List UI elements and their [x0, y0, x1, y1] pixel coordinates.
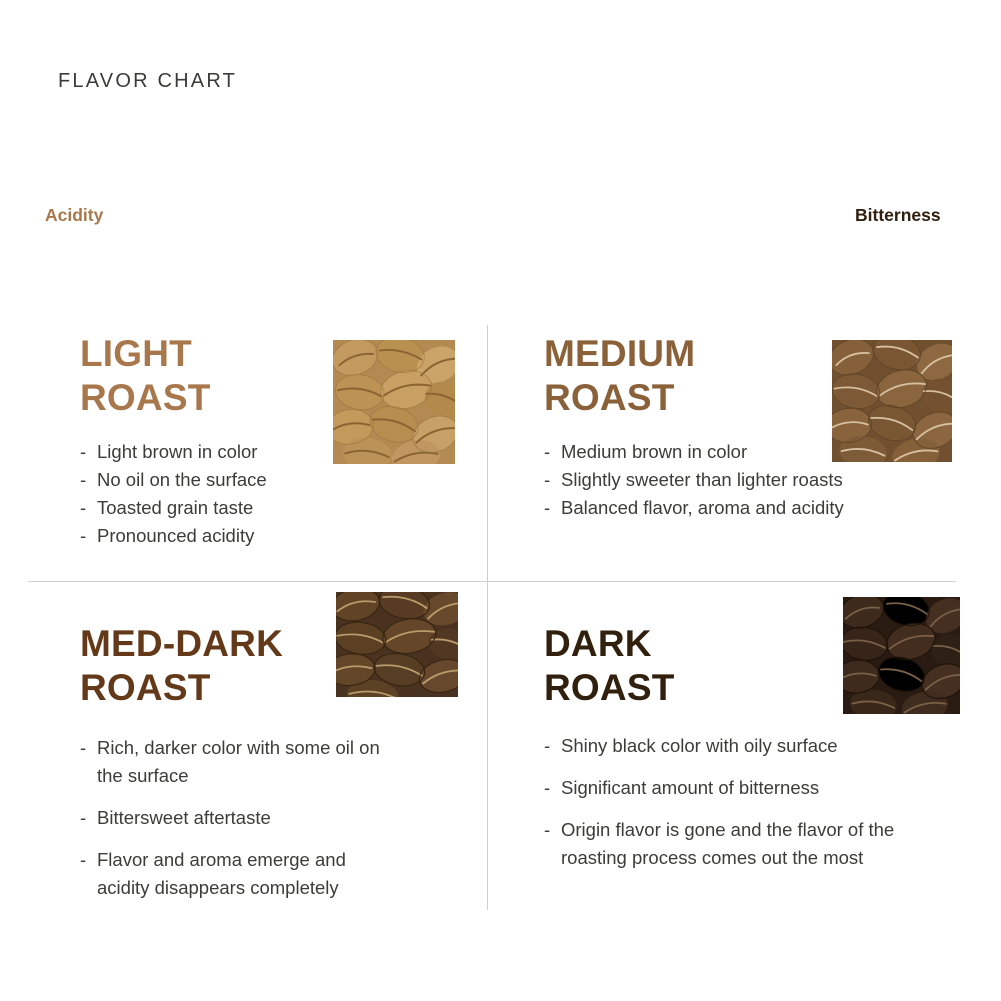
- list-item: -Toasted grain taste: [80, 494, 480, 522]
- scale-segment-label-meddark: MED-DARK: [525, 205, 641, 229]
- bullet-dash: -: [544, 438, 550, 466]
- roast-heading-light: LIGHT ROAST: [80, 332, 480, 420]
- bullet-text: Balanced flavor, aroma and acidity: [561, 497, 844, 518]
- bullet-text: No oil on the surface: [97, 469, 267, 490]
- roast-card-dark: DARK ROAST -Shiny black color with oily …: [544, 622, 964, 886]
- scale-segment-label-dark: DARK: [721, 205, 782, 229]
- bullet-text: Light brown in color: [97, 441, 257, 462]
- list-item: -Significant amount of bitterness: [544, 774, 922, 802]
- list-item: -Origin flavor is gone and the flavor of…: [544, 816, 922, 872]
- bullet-text: Significant amount of bitterness: [561, 777, 819, 798]
- bullet-dash: -: [80, 522, 86, 550]
- bullet-text: Pronounced acidity: [97, 525, 254, 546]
- bullet-text: Origin flavor is gone and the flavor of …: [561, 819, 894, 868]
- bullet-text: Rich, darker color with some oil on the …: [97, 737, 380, 786]
- bullet-text: Slightly sweeter than lighter roasts: [561, 469, 843, 490]
- roast-scale: Acidity Bitterness LIGHT MEDIUM MED-DARK…: [0, 155, 1001, 280]
- bullet-dash: -: [544, 732, 550, 760]
- vertical-divider: [487, 325, 488, 910]
- roast-bullets-dark: -Shiny black color with oily surface -Si…: [544, 732, 922, 872]
- bullet-dash: -: [544, 494, 550, 522]
- bullet-dash: -: [544, 774, 550, 802]
- bullet-dash: -: [80, 804, 86, 832]
- list-item: -Balanced flavor, aroma and acidity: [544, 494, 964, 522]
- list-item: -Bittersweet aftertaste: [80, 804, 380, 832]
- bullet-text: Toasted grain taste: [97, 497, 253, 518]
- bullet-dash: -: [544, 816, 550, 844]
- list-item: -Pronounced acidity: [80, 522, 480, 550]
- page-title: FLAVOR CHART: [58, 70, 237, 93]
- horizontal-divider: [28, 581, 956, 582]
- bullet-dash: -: [544, 466, 550, 494]
- bullet-dash: -: [80, 846, 86, 874]
- bullet-text: Medium brown in color: [561, 441, 747, 462]
- list-item: -Flavor and aroma emerge and acidity dis…: [80, 846, 380, 902]
- scale-right-label: Bitterness: [855, 205, 941, 226]
- scale-left-label: Acidity: [45, 205, 103, 226]
- bullet-dash: -: [80, 466, 86, 494]
- list-item: -Slightly sweeter than lighter roasts: [544, 466, 964, 494]
- list-item: -Shiny black color with oily surface: [544, 732, 922, 760]
- bullet-dash: -: [80, 734, 86, 762]
- bullet-text: Flavor and aroma emerge and acidity disa…: [97, 849, 346, 898]
- bullet-text: Shiny black color with oily surface: [561, 735, 838, 756]
- scale-segment-label-medium: MEDIUM: [370, 205, 456, 229]
- list-item: -No oil on the surface: [80, 466, 480, 494]
- roast-heading-meddark: MED-DARK ROAST: [80, 622, 480, 710]
- roast-heading-dark: DARK ROAST: [544, 622, 964, 710]
- bullet-dash: -: [80, 494, 86, 522]
- roast-bullets-meddark: -Rich, darker color with some oil on the…: [80, 734, 380, 903]
- list-item: -Rich, darker color with some oil on the…: [80, 734, 380, 790]
- roast-card-meddark: MED-DARK ROAST -Rich, darker color with …: [80, 622, 480, 917]
- roast-heading-medium: MEDIUM ROAST: [544, 332, 964, 420]
- scale-segment-label-light: LIGHT: [219, 205, 283, 229]
- bullet-text: Bittersweet aftertaste: [97, 807, 271, 828]
- bullet-dash: -: [80, 438, 86, 466]
- roast-scale-graphic: [0, 155, 1001, 280]
